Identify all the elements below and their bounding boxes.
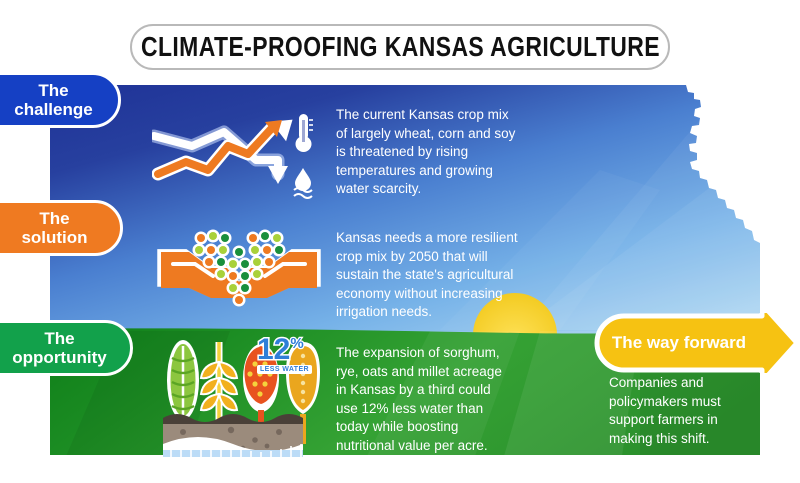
callout-caption: LESS WATER [257,365,312,374]
thermometer-icon [296,114,314,152]
water-drop-waves-icon [294,168,312,198]
way-forward-banner[interactable]: The way forward [594,313,800,373]
badge-solution-line2: solution [21,228,87,247]
body-text-solution: Kansas needs a more resilient crop mix b… [336,229,520,322]
body-text-opportunity: The expansion of sorghum, rye, oats and … [336,344,516,455]
callout-percent-symbol: % [290,336,303,351]
page-title-text: CLIMATE-PROOFING KANSAS AGRICULTURE [140,31,659,63]
section-badge-challenge[interactable]: The challenge [0,72,121,128]
infographic-canvas: CLIMATE-PROOFING KANSAS AGRICULTURE The … [0,0,800,483]
way-forward-label: The way forward [594,313,764,373]
badge-opportunity-line1: The [12,329,106,348]
body-text-challenge: The current Kansas crop mix of largely w… [336,106,518,199]
hands-holding-seed-heart-icon [155,228,323,318]
callout-value: 12 [257,336,290,364]
badge-challenge-line2: challenge [14,100,92,119]
body-text-way-forward: Companies and policymakers must support … [609,374,759,448]
badge-opportunity-line2: opportunity [12,348,106,367]
page-title: CLIMATE-PROOFING KANSAS AGRICULTURE [130,24,670,70]
badge-solution-line1: The [21,209,87,228]
section-badge-opportunity[interactable]: The opportunity [0,320,133,376]
crossing-trend-arrows-icon [152,98,327,208]
water-saving-callout: 12 % LESS WATER [257,336,312,374]
section-badge-solution[interactable]: The solution [0,200,123,256]
badge-challenge-line1: The [14,81,92,100]
